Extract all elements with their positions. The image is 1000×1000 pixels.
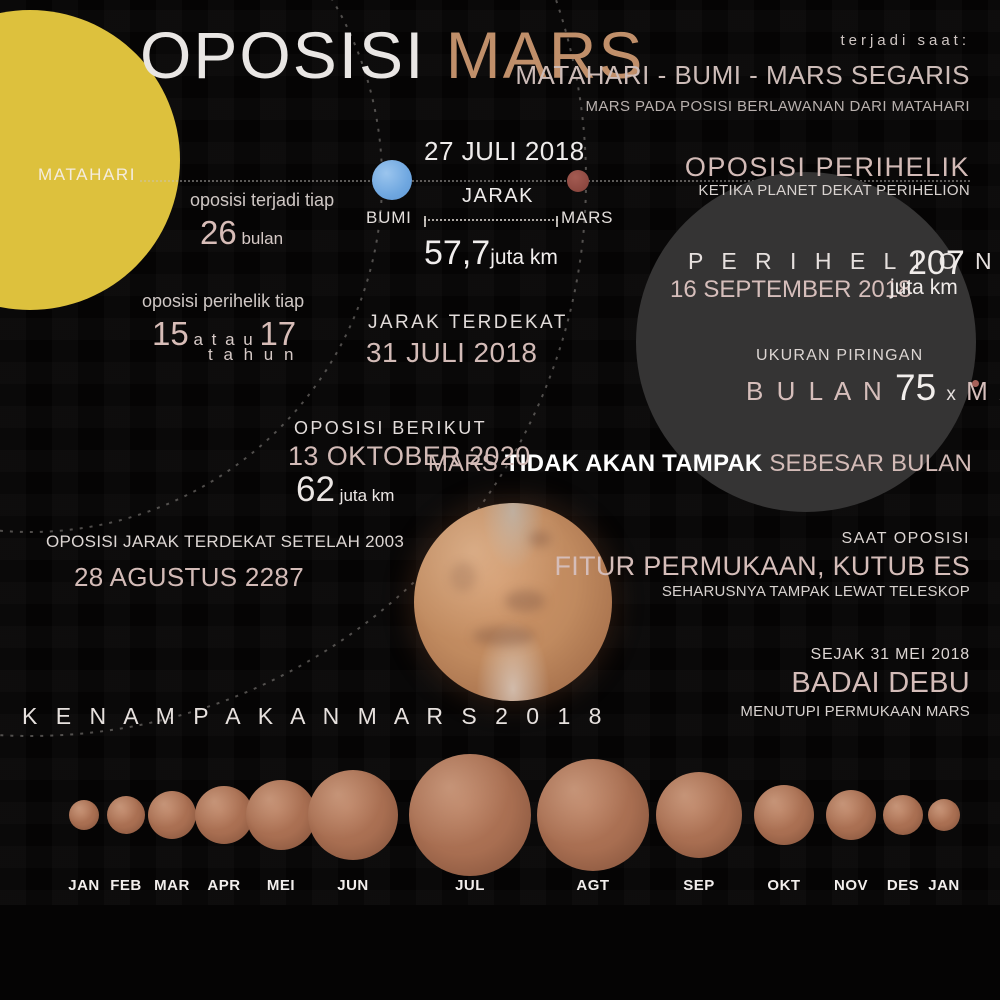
ukuran-multiply-sign: x bbox=[946, 384, 956, 405]
month-label-sep-8: SEP bbox=[683, 877, 715, 894]
oposisi-berikut-value: 62 bbox=[296, 470, 335, 509]
fitur-permukaan-subtext: SEHARUSNYA TAMPAK LEWAT TELESKOP bbox=[662, 583, 970, 600]
mars-disk-des-11 bbox=[883, 795, 923, 835]
perihelion-unit: juta km bbox=[890, 276, 958, 300]
mars-disk-sep-8 bbox=[656, 772, 742, 858]
footer-bar: LANGITSELATAN ♞ ASTRO 101 langitselatan … bbox=[0, 905, 1000, 1000]
mars-dot bbox=[567, 170, 589, 192]
mars-disk-mei-4 bbox=[246, 780, 316, 850]
month-label-jan-12: JAN bbox=[928, 877, 960, 894]
mars-photo bbox=[414, 503, 612, 701]
mars-disk-mar-2 bbox=[148, 791, 196, 839]
oposisi-perihelik-title: OPOSISI PERIHELIK bbox=[685, 152, 970, 183]
distance-measure-bar bbox=[424, 219, 558, 221]
berlawanan-subtext: MARS PADA POSISI BERLAWANAN DARI MATAHAR… bbox=[585, 98, 970, 115]
oposisi-tiap-caption: oposisi terjadi tiap bbox=[190, 190, 334, 211]
month-label-jan-0: JAN bbox=[68, 877, 100, 894]
month-label-agt-7: AGT bbox=[576, 877, 609, 894]
jarak-terdekat-date: 31 JULI 2018 bbox=[366, 337, 537, 369]
mars-label: MARS bbox=[561, 208, 613, 228]
ukuran-bulan-label: B U L A N bbox=[746, 376, 885, 406]
mars-disk-agt-7 bbox=[537, 759, 649, 871]
tidak-suffix: SEBESAR BULAN bbox=[762, 450, 972, 477]
month-label-jul-6: JUL bbox=[455, 877, 485, 894]
ukuran-piringan-line: B U L A N 75 x M A R S bbox=[746, 367, 1000, 409]
tidak-emphasis: TIDAK AKAN TAMPAK bbox=[505, 450, 763, 477]
ukuran-value: 75 bbox=[895, 367, 936, 408]
jarak-terdekat-caption: JARAK TERDEKAT bbox=[368, 312, 568, 334]
mars-disk-jan-12 bbox=[928, 799, 960, 831]
mars-disk-feb-1 bbox=[107, 796, 145, 834]
distance-number: 57,7 bbox=[424, 234, 490, 272]
perihelion-date: 16 SEPTEMBER 2018 bbox=[670, 276, 911, 304]
month-label-jun-5: JUN bbox=[337, 877, 369, 894]
oposisi-berikut-caption: OPOSISI BERIKUT bbox=[294, 418, 487, 439]
perihelik-tahun-unit: t a h u n bbox=[208, 345, 296, 365]
kenampakan-mars-title: K E N A M P A K A N M A R S 2 0 1 8 bbox=[22, 703, 607, 730]
terdekat-2003-date: 28 AGUSTUS 2287 bbox=[74, 562, 304, 593]
mars-disk-nov-10 bbox=[826, 790, 876, 840]
badai-debu-headline: BADAI DEBU bbox=[791, 667, 970, 700]
segaris-headline: MATAHARI - BUMI - MARS SEGARIS bbox=[515, 60, 970, 91]
badai-debu-subtext: MENUTUPI PERMUKAAN MARS bbox=[740, 703, 970, 720]
perihelik-tiap-caption: oposisi perihelik tiap bbox=[142, 291, 304, 312]
month-label-des-11: DES bbox=[887, 877, 919, 894]
distance-unit: juta km bbox=[490, 246, 558, 269]
ukuran-piringan-caption: UKURAN PIRINGAN bbox=[756, 347, 923, 365]
oposisi-berikut-unit: juta km bbox=[340, 486, 395, 505]
earth-label: BUMI bbox=[366, 208, 412, 228]
terjadi-saat-eyebrow: terjadi saat: bbox=[840, 32, 970, 49]
badai-debu-caption: SEJAK 31 MEI 2018 bbox=[811, 646, 970, 664]
perihelik-value-15: 15 bbox=[152, 315, 189, 352]
jarak-label: JARAK bbox=[462, 185, 534, 208]
month-label-mei-4: MEI bbox=[267, 877, 295, 894]
infographic-poster: MATAHARI OPOSISI MARS terjadi saat: MATA… bbox=[0, 0, 1000, 1000]
opposition-date: 27 JULI 2018 bbox=[424, 136, 585, 167]
ukuran-mars-label: M A R S bbox=[966, 376, 1000, 406]
terdekat-2003-caption: OPOSISI JARAK TERDEKAT SETELAH 2003 bbox=[46, 532, 404, 552]
oposisi-tiap-unit: bulan bbox=[241, 229, 283, 248]
mars-disk-apr-3 bbox=[195, 786, 253, 844]
oposisi-berikut-date: 13 OKTOBER 2020 bbox=[288, 441, 531, 472]
oposisi-tiap-value: 26 bbox=[200, 214, 237, 251]
month-label-apr-3: APR bbox=[207, 877, 240, 894]
sun-label: MATAHARI bbox=[38, 165, 136, 185]
oposisi-berikut-distance: 62 juta km bbox=[296, 470, 394, 510]
distance-value: 57,7juta km bbox=[424, 234, 558, 273]
mars-disk-jan-0 bbox=[69, 800, 99, 830]
month-label-nov-10: NOV bbox=[834, 877, 868, 894]
month-label-okt-9: OKT bbox=[767, 877, 800, 894]
mars-disk-jul-6 bbox=[409, 754, 531, 876]
saat-oposisi-caption: SAAT OPOSISI bbox=[841, 530, 970, 548]
oposisi-tiap-value-row: 26 bulan bbox=[200, 214, 283, 252]
title-word-oposisi: OPOSISI bbox=[140, 18, 425, 92]
month-label-feb-1: FEB bbox=[110, 877, 142, 894]
earth-disk bbox=[372, 160, 412, 200]
oposisi-perihelik-subtitle: KETIKA PLANET DEKAT PERIHELION bbox=[698, 182, 970, 199]
month-label-mar-2: MAR bbox=[154, 877, 190, 894]
fitur-permukaan-headline: FITUR PERMUKAAN, KUTUB ES bbox=[554, 551, 970, 582]
mars-size-dot-icon bbox=[972, 380, 979, 387]
mars-disk-jun-5 bbox=[308, 770, 398, 860]
mars-disk-okt-9 bbox=[754, 785, 814, 845]
